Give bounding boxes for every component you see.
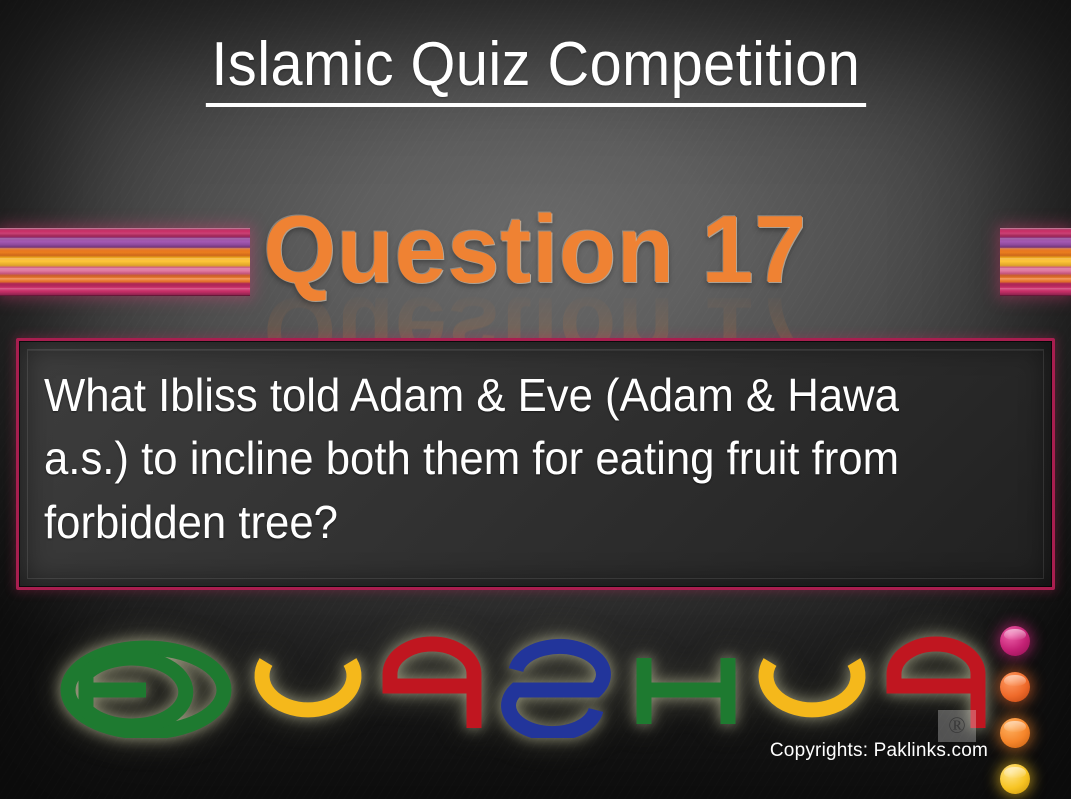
logo-letter-p bbox=[390, 644, 474, 728]
dot-magenta bbox=[1000, 626, 1030, 656]
decorative-dots-column bbox=[1000, 626, 1048, 799]
dot-orange-red bbox=[1000, 672, 1030, 702]
logo-letter-h bbox=[644, 658, 728, 724]
dot-orange bbox=[1000, 718, 1030, 748]
quiz-slide: Islamic Quiz Competition Question 17 Que… bbox=[0, 0, 1071, 799]
logo-letter-s bbox=[509, 646, 604, 733]
logo-letter-u bbox=[262, 662, 354, 710]
slide-title-container: Islamic Quiz Competition bbox=[0, 32, 1071, 107]
registered-trademark-icon: ® bbox=[938, 710, 976, 742]
question-text: What Ibliss told Adam & Eve (Adam & Hawa… bbox=[44, 364, 978, 554]
question-box: What Ibliss told Adam & Eve (Adam & Hawa… bbox=[16, 338, 1055, 590]
page-title: Islamic Quiz Competition bbox=[205, 32, 865, 107]
gupshup-logo-svg bbox=[36, 628, 996, 738]
logo-letter-u-2 bbox=[766, 662, 858, 710]
question-box-inner: What Ibliss told Adam & Eve (Adam & Hawa… bbox=[27, 349, 1044, 579]
copyright-text: Copyrights: Paklinks.com bbox=[0, 740, 988, 762]
logo-letter-g bbox=[68, 648, 224, 732]
gupshup-logo[interactable] bbox=[36, 628, 996, 738]
dot-yellow bbox=[1000, 764, 1030, 794]
